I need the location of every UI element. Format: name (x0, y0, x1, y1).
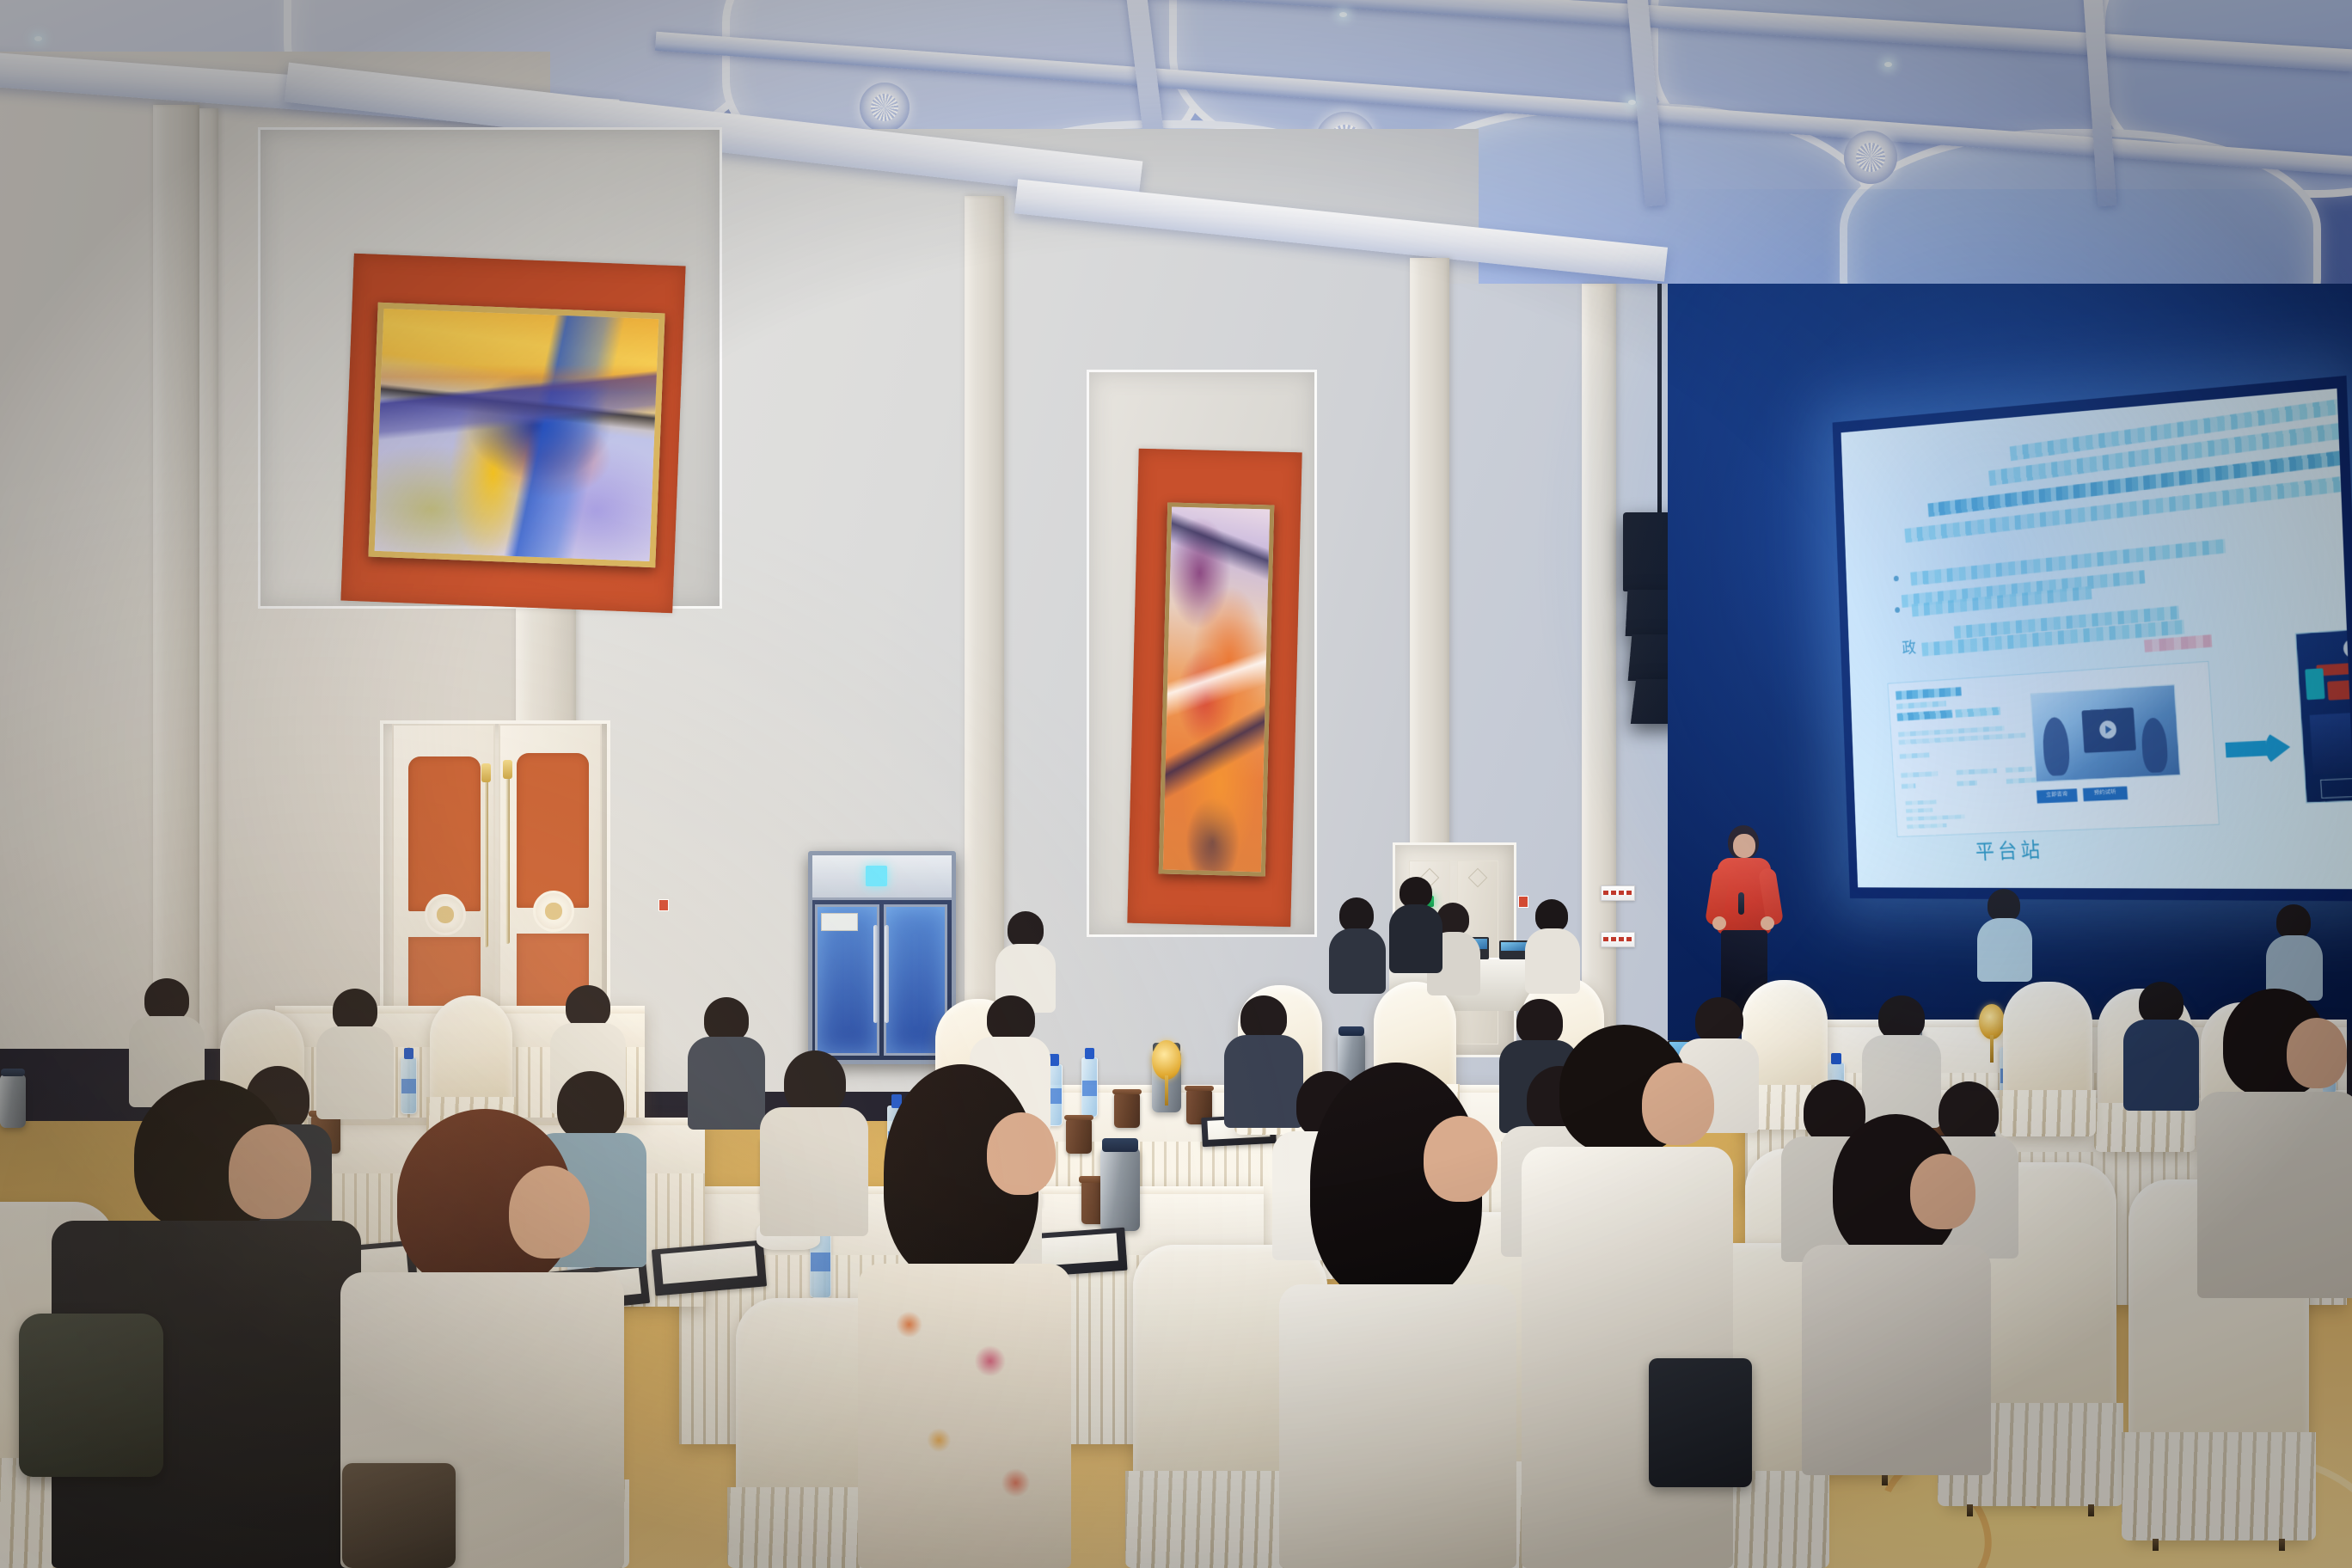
attendee (1977, 889, 2032, 977)
wall-pilaster (153, 105, 199, 1049)
wall-pilaster (1582, 284, 1616, 1075)
vacuum-thermos (0, 1075, 26, 1128)
attendee (2266, 904, 2323, 994)
water-bottle (401, 1057, 417, 1114)
slide-caption: 平台站 (1975, 834, 2045, 866)
slide-cta-button-primary[interactable]: 立即咨询 (2037, 788, 2078, 803)
landscape-abstract-painting (368, 303, 665, 568)
ceiling-downlight (1884, 62, 1892, 67)
presenter-hand-left (1712, 916, 1726, 930)
attendee (760, 1050, 868, 1231)
attendee (995, 911, 1056, 1006)
vacuum-thermos (1100, 1148, 1140, 1231)
attendee-foreground (858, 1064, 1071, 1568)
backpack (19, 1314, 163, 1477)
presenter-hand-right (1761, 916, 1774, 930)
table-number-stand (1979, 1004, 2005, 1061)
water-bottle (1081, 1057, 1098, 1118)
tea-mug (1114, 1093, 1140, 1128)
ceiling-rosette (860, 83, 910, 132)
handbag (342, 1463, 456, 1568)
attendee (688, 997, 765, 1126)
door-medallion (425, 894, 466, 935)
slide-bullet-marker (1894, 576, 1899, 582)
flow-arrow-icon (2225, 730, 2292, 767)
wall-pilaster (199, 108, 218, 1049)
slide-bullet-marker (1895, 607, 1900, 613)
slide-cta-button-secondary[interactable]: 预约试听 (2083, 787, 2128, 802)
attendee (1525, 899, 1580, 989)
conference-hall-photo: 政 (0, 0, 2352, 1568)
laptop[interactable] (1499, 940, 1528, 959)
glass-door-display-refrigerator (808, 851, 956, 1064)
attendee (2123, 982, 2199, 1107)
ceiling-downlight (1628, 100, 1636, 105)
speaker-suspension-cable (1657, 284, 1662, 514)
slide-section-label: 政 (1902, 634, 1917, 658)
presenter-face (1733, 834, 1755, 858)
slide-highlight-redacted (2144, 634, 2212, 652)
tote-bag (1649, 1358, 1752, 1487)
wall-sign-upper (1601, 885, 1635, 901)
presentation-slide: 政 (1841, 389, 2352, 889)
slide-photo-thumbnail (2030, 684, 2181, 782)
handheld-microphone (1738, 892, 1744, 915)
vertical-abstract-painting (1159, 503, 1275, 877)
wall-sign-lower (1601, 932, 1635, 947)
attendee-foreground (1802, 1114, 1991, 1475)
slide-phone-mockup (2295, 627, 2352, 804)
slide-content-card: 立即咨询 预约试听 (1888, 661, 2220, 837)
ceiling-downlight (34, 36, 42, 41)
attendee-foreground (2197, 989, 2352, 1298)
door-medallion (533, 891, 574, 932)
ceiling-rosette (1844, 131, 1897, 184)
projection-screen: 政 (1833, 376, 2352, 901)
table-number-stand (1152, 1040, 1181, 1104)
fire-alarm-point-icon (658, 899, 669, 911)
fridge-label-sticker (821, 913, 859, 931)
fridge-display-led (866, 866, 888, 886)
ceiling-downlight (1339, 12, 1347, 17)
document-folder (652, 1240, 767, 1295)
attendee (1329, 897, 1386, 987)
av-operator (1389, 877, 1442, 970)
attendee-foreground (1279, 1063, 1516, 1568)
